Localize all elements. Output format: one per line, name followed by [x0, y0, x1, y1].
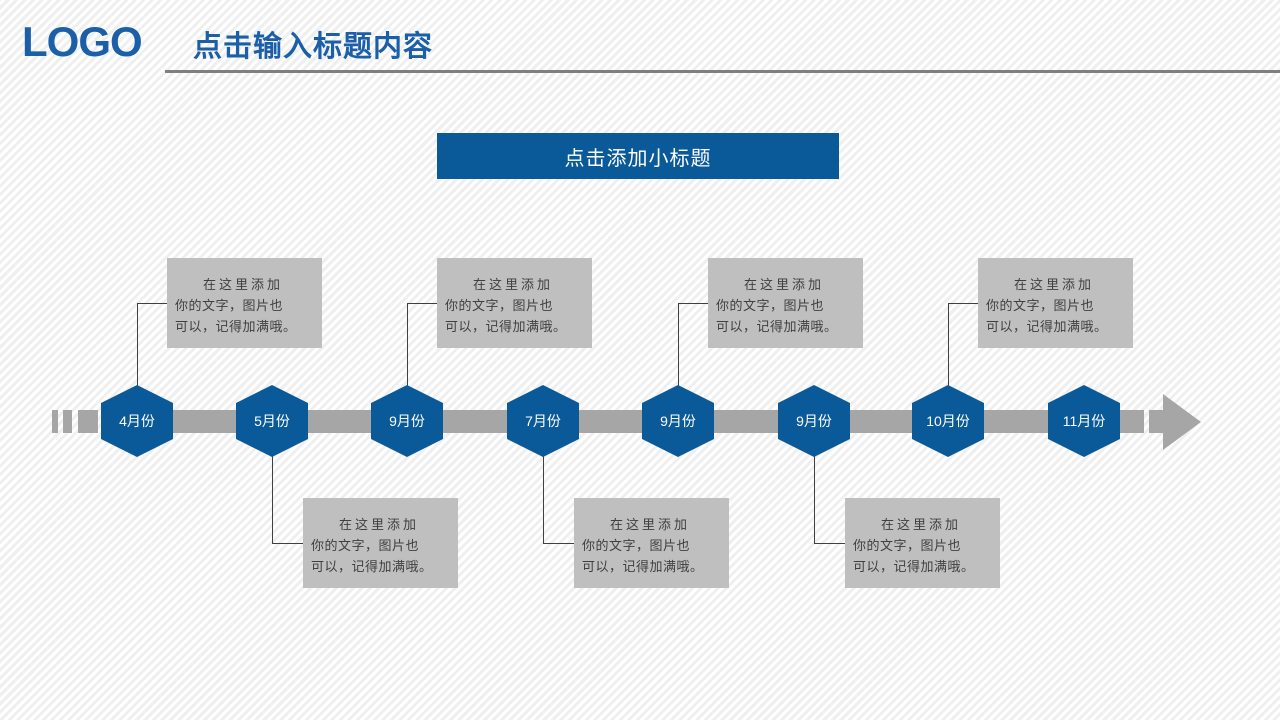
callout-line: 在这里添加: [175, 274, 314, 295]
callout-line: 你的文字，图片也: [853, 535, 992, 556]
connector-line-bottom: [272, 452, 273, 544]
callout-line: 在这里添加: [445, 274, 584, 295]
milestone-label: 9月份: [389, 411, 425, 431]
connector-line-bottom: [272, 543, 304, 544]
connector-line-top: [948, 303, 978, 304]
connector-line-bottom: [814, 543, 846, 544]
connector-line-top: [137, 303, 167, 304]
header-divider: [165, 70, 1280, 73]
timeline-milestone-7[interactable]: 10月份: [912, 385, 984, 457]
milestone-label: 7月份: [525, 411, 561, 431]
logo: LOGO: [22, 18, 142, 66]
subtitle-label: 点击添加小标题: [565, 142, 712, 171]
callout-line: 可以，记得加满哦。: [175, 316, 314, 337]
timeline-milestone-3[interactable]: 9月份: [371, 385, 443, 457]
timeline-milestone-5[interactable]: 9月份: [642, 385, 714, 457]
callout-line: 你的文字，图片也: [582, 535, 721, 556]
timeline-milestone-1[interactable]: 4月份: [101, 385, 173, 457]
callout-line: 在这里添加: [582, 514, 721, 535]
page-header: LOGO 点击输入标题内容: [0, 0, 1280, 78]
connector-line-top: [948, 303, 949, 390]
callout-line: 可以，记得加满哦。: [582, 556, 721, 577]
callout-line: 可以，记得加满哦。: [853, 556, 992, 577]
connector-line-top: [137, 303, 138, 390]
callout-line: 在这里添加: [853, 514, 992, 535]
milestone-label: 11月份: [1063, 411, 1106, 431]
milestone-label: 5月份: [254, 411, 290, 431]
callout-box-bottom-3[interactable]: 在这里添加 你的文字，图片也 可以，记得加满哦。: [845, 498, 1000, 588]
connector-line-bottom: [543, 452, 544, 544]
callout-line: 可以，记得加满哦。: [445, 316, 584, 337]
callout-box-bottom-2[interactable]: 在这里添加 你的文字，图片也 可以，记得加满哦。: [574, 498, 729, 588]
connector-line-top: [407, 303, 408, 390]
callout-line: 你的文字，图片也: [311, 535, 450, 556]
callout-line: 你的文字，图片也: [716, 295, 855, 316]
callout-line: 在这里添加: [311, 514, 450, 535]
connector-line-bottom: [543, 543, 575, 544]
milestone-label: 4月份: [119, 411, 155, 431]
connector-line-bottom: [814, 452, 815, 544]
timeline-end-dash: [1128, 410, 1144, 433]
callout-box-bottom-1[interactable]: 在这里添加 你的文字，图片也 可以，记得加满哦。: [303, 498, 458, 588]
milestone-label: 10月份: [926, 411, 970, 431]
callout-box-top-2[interactable]: 在这里添加 你的文字，图片也 可以，记得加满哦。: [437, 258, 592, 348]
connector-line-top: [678, 303, 708, 304]
callout-line: 可以，记得加满哦。: [311, 556, 450, 577]
callout-line: 可以，记得加满哦。: [716, 316, 855, 337]
subtitle-banner: 点击添加小标题: [437, 133, 839, 179]
connector-line-top: [678, 303, 679, 390]
callout-line: 在这里添加: [986, 274, 1125, 295]
timeline-milestone-6[interactable]: 9月份: [778, 385, 850, 457]
milestone-label: 9月份: [660, 411, 696, 431]
connector-line-top: [407, 303, 437, 304]
callout-box-top-3[interactable]: 在这里添加 你的文字，图片也 可以，记得加满哦。: [708, 258, 863, 348]
timeline-milestone-2[interactable]: 5月份: [236, 385, 308, 457]
callout-line: 你的文字，图片也: [445, 295, 584, 316]
timeline-start-dash: [78, 410, 98, 433]
callout-line: 在这里添加: [716, 274, 855, 295]
callout-line: 你的文字，图片也: [175, 295, 314, 316]
timeline-start-dash: [63, 410, 72, 433]
page-title: 点击输入标题内容: [193, 23, 433, 65]
timeline-milestone-8[interactable]: 11月份: [1048, 385, 1120, 457]
milestone-label: 9月份: [796, 411, 832, 431]
timeline-start-dash: [52, 410, 58, 433]
timeline-milestone-4[interactable]: 7月份: [507, 385, 579, 457]
callout-box-top-4[interactable]: 在这里添加 你的文字，图片也 可以，记得加满哦。: [978, 258, 1133, 348]
timeline-arrow-icon: [1163, 394, 1201, 450]
callout-line: 可以，记得加满哦。: [986, 316, 1125, 337]
callout-line: 你的文字，图片也: [986, 295, 1125, 316]
callout-box-top-1[interactable]: 在这里添加 你的文字，图片也 可以，记得加满哦。: [167, 258, 322, 348]
